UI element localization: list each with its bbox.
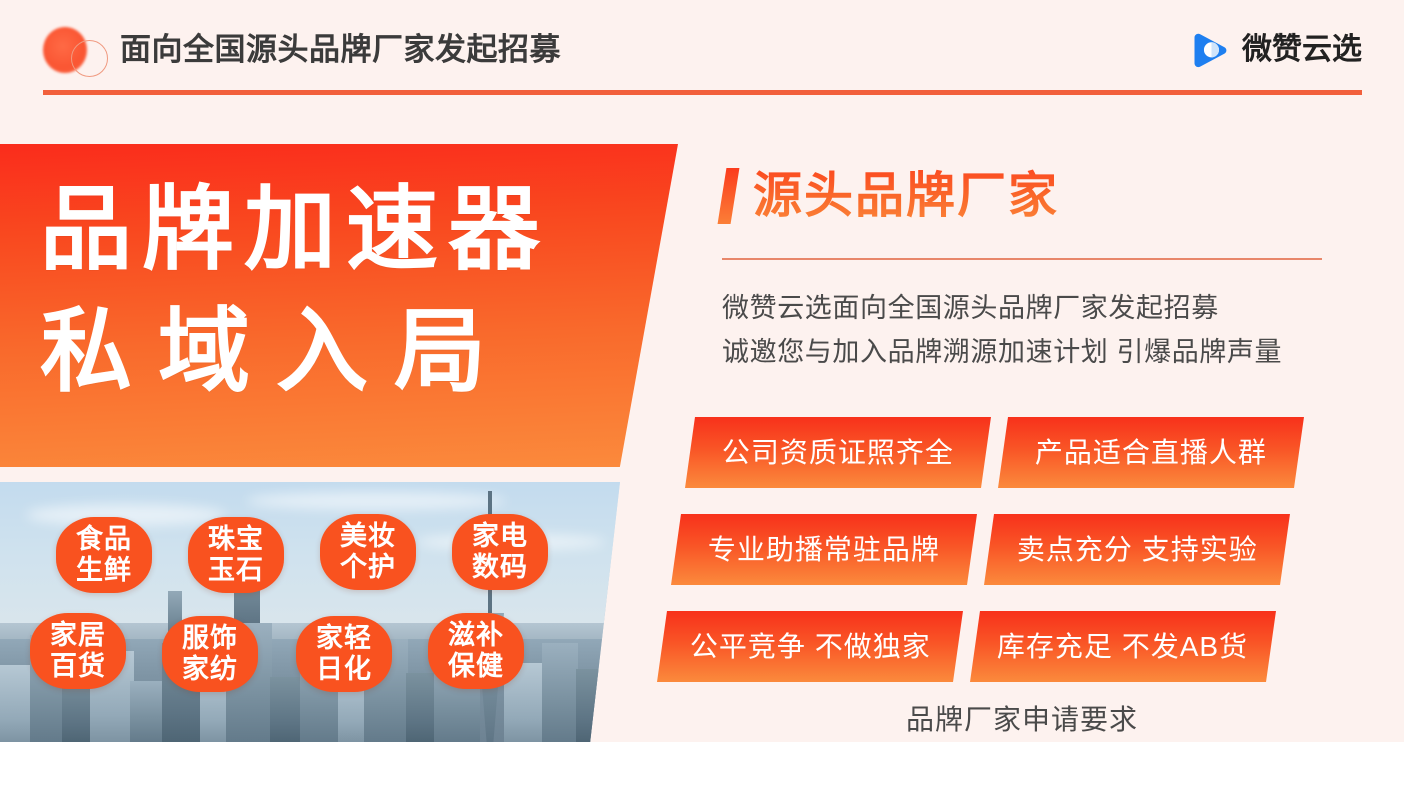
feature-tag-6[interactable]: 库存充足 不发AB货 — [970, 611, 1276, 682]
category-pill-7[interactable]: 家轻 日化 — [296, 616, 392, 692]
feature-tag-label: 产品适合直播人群 — [1035, 436, 1267, 470]
category-line1: 家轻 — [316, 623, 372, 654]
category-line2: 日化 — [316, 654, 372, 685]
category-line1: 家电 — [472, 521, 528, 552]
feature-tag-4[interactable]: 卖点充分 支持实验 — [984, 514, 1290, 585]
category-line1: 食品 — [76, 524, 132, 555]
poster-page: 面向全国源头品牌厂家发起招募 微赞云选 品牌加速器 私域入局 — [0, 0, 1404, 787]
feature-tag-3[interactable]: 专业助播常驻品牌 — [671, 514, 977, 585]
category-line2: 个护 — [340, 552, 396, 583]
category-line1: 家居 — [50, 620, 106, 651]
feature-tag-label: 库存充足 不发AB货 — [997, 630, 1248, 664]
category-pill-1[interactable]: 食品 生鲜 — [56, 517, 152, 593]
category-pill-2[interactable]: 珠宝 玉石 — [188, 517, 284, 593]
outline-circle-icon — [71, 40, 108, 77]
category-line2: 百货 — [50, 651, 106, 682]
category-pill-3[interactable]: 美妆 个护 — [320, 514, 416, 590]
header-divider — [43, 90, 1362, 95]
hero-headline-line1: 品牌加速器 — [40, 182, 550, 278]
page-header: 面向全国源头品牌厂家发起招募 微赞云选 — [0, 0, 1404, 96]
section-description: 微赞云选面向全国源头品牌厂家发起招募 诚邀您与加入品牌溯源加速计划 引爆品牌声量 — [722, 286, 1282, 374]
play-button-logo-icon — [1189, 28, 1233, 72]
building — [130, 681, 164, 743]
building — [542, 643, 578, 743]
category-line2: 玉石 — [208, 555, 264, 586]
section-heading: 源头品牌厂家 — [722, 168, 1059, 224]
feature-tag-1[interactable]: 公司资质证照齐全 — [685, 417, 991, 488]
brand-name: 微赞云选 — [1242, 33, 1362, 67]
section-title: 源头品牌厂家 — [753, 168, 1059, 224]
building — [270, 677, 304, 743]
feature-tag-label: 公司资质证照齐全 — [722, 436, 954, 470]
section-divider — [722, 258, 1322, 260]
section-description-line1: 微赞云选面向全国源头品牌厂家发起招募 — [722, 286, 1282, 330]
category-pill-6[interactable]: 服饰 家纺 — [162, 616, 258, 692]
feature-tag-5[interactable]: 公平竞争 不做独家 — [657, 611, 963, 682]
page-title: 面向全国源头品牌厂家发起招募 — [120, 30, 561, 70]
footer-white-strip — [0, 742, 1404, 787]
feature-tag-label: 专业助播常驻品牌 — [708, 533, 940, 567]
category-line1: 服饰 — [182, 623, 238, 654]
feature-tag-label: 公平竞争 不做独家 — [690, 630, 931, 664]
category-pill-4[interactable]: 家电 数码 — [452, 514, 548, 590]
category-pill-8[interactable]: 滋补 保健 — [428, 613, 524, 689]
category-line2: 家纺 — [182, 654, 238, 685]
category-line1: 珠宝 — [208, 524, 264, 555]
category-line1: 滋补 — [448, 620, 504, 651]
orange-circles-icon — [41, 26, 111, 74]
feature-tag-label: 卖点充分 支持实验 — [1017, 533, 1258, 567]
cloud-shape — [246, 492, 506, 510]
category-pill-5[interactable]: 家居 百货 — [30, 613, 126, 689]
hero-banner: 品牌加速器 私域入局 — [0, 144, 678, 467]
section-description-line2: 诚邀您与加入品牌溯源加速计划 引爆品牌声量 — [722, 330, 1282, 374]
category-line2: 数码 — [472, 552, 528, 583]
category-line2: 生鲜 — [76, 555, 132, 586]
feature-tag-2[interactable]: 产品适合直播人群 — [998, 417, 1304, 488]
category-line2: 保健 — [448, 651, 504, 682]
hero-headline-line2: 私域入局 — [40, 304, 512, 400]
tags-caption: 品牌厂家申请要求 — [722, 703, 1322, 737]
brand-logo[interactable]: 微赞云选 — [1189, 28, 1362, 72]
category-line1: 美妆 — [340, 521, 396, 552]
